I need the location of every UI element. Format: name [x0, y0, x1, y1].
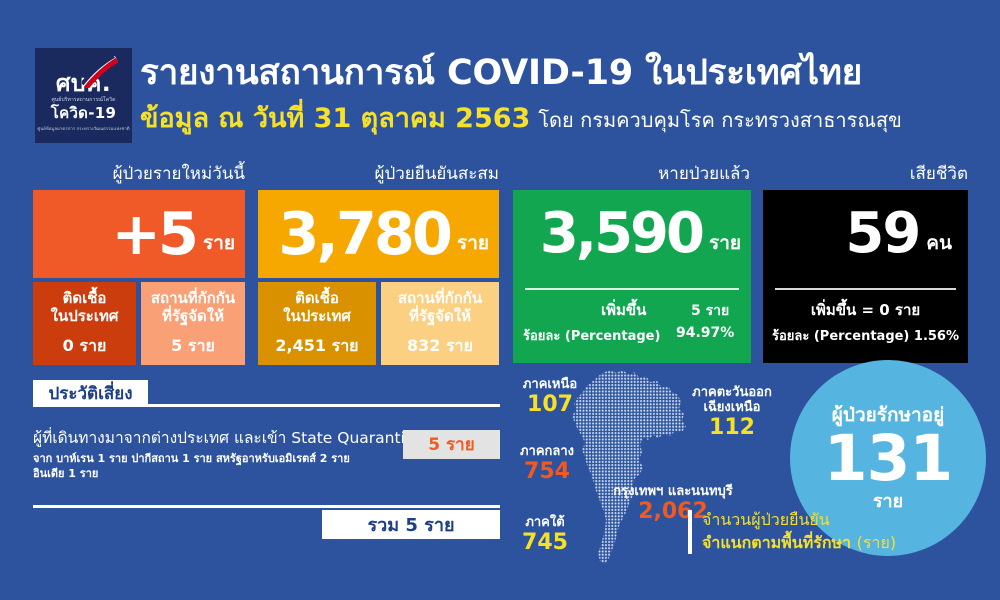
risk-fine-line-2: อินเดีย 1 ราย: [33, 466, 433, 481]
divider: [775, 288, 956, 290]
region-value: 112: [672, 415, 792, 440]
deaths-value: 59: [845, 211, 919, 257]
risk-count-badge: 5 ราย: [403, 430, 500, 459]
thai-flag-ribbon-icon: [82, 56, 118, 88]
new-today-unit: ราย: [203, 228, 235, 258]
new-today-sub-domestic: ติดเชื้อ ในประเทศ 0 ราย: [33, 282, 136, 365]
map-label-central: ภาคกลาง 754: [497, 444, 597, 484]
card-label-new-today: ผู้ป่วยรายใหม่วันนี้: [30, 163, 245, 185]
region-value: 754: [497, 459, 597, 484]
region-name: ภาคใต้: [500, 515, 590, 530]
region-value: 745: [500, 530, 590, 555]
sub-title-line2: ที่รัฐจัดให้: [409, 307, 471, 325]
page-header: ศบค. ศูนย์บริหารสถานการณ์โควิด โควิด-19 …: [0, 0, 1000, 150]
region-name-line2: เฉียงเหนือ: [672, 400, 792, 415]
divider: [525, 288, 739, 290]
recovered-row-0-value: 5 ราย: [691, 300, 729, 322]
region-name: ภาคกลาง: [497, 444, 597, 459]
risk-total-badge: รวม 5 ราย: [322, 510, 500, 539]
caption-unit: (ราย): [857, 533, 896, 552]
risk-history-tag: ประวัติเสี่ยง: [33, 380, 148, 406]
risk-divider: [33, 404, 500, 407]
deaths-unit: คน: [926, 228, 952, 258]
sub-title-line1: สถานที่กักกัน: [398, 289, 482, 307]
report-source: โดย กรมควบคุมโรค กระทรวงสาธารณสุข: [538, 108, 902, 132]
map-label-northeast: ภาคตะวันออก เฉียงเหนือ 112: [672, 385, 792, 440]
sub-title-line2: ในประเทศ: [283, 307, 351, 325]
cumulative-value: 3,780: [278, 210, 450, 258]
report-date: ข้อมูล ณ วันที่ 31 ตุลาคม 2563: [140, 103, 530, 134]
caption-accent-bar: [688, 510, 692, 554]
caption-line-2-text: จำแนกตามพื้นที่รักษา: [702, 533, 851, 552]
risk-country-breakdown: จาก บาห์เรน 1 ราย ปากีสถาน 1 ราย สหรัฐอา…: [33, 451, 433, 481]
recovered-value: 3,590: [540, 211, 702, 257]
deaths-row-1-name: ร้อยละ (Percentage) 1.56%: [763, 325, 968, 346]
deaths-card: 59 คน เพิ่มขึ้น = 0 ราย ร้อยละ (Percenta…: [763, 190, 968, 363]
ccsa-logo: ศบค. ศูนย์บริหารสถานการณ์โควิด โควิด-19 …: [35, 48, 132, 143]
sub-title-line1: สถานที่กักกัน: [151, 289, 235, 307]
recovered-card: 3,590 ราย เพิ่มขึ้น 5 ราย ร้อยละ (Percen…: [513, 190, 751, 363]
caption-line-1: จำนวนผู้ป่วยยืนยัน: [702, 508, 978, 531]
card-label-cumulative: ผู้ป่วยยืนยันสะสม: [258, 163, 499, 185]
cumulative-value-box: 3,780 ราย: [258, 190, 499, 278]
card-label-recovered: หายป่วยแล้ว: [510, 163, 750, 185]
region-name: กรุงเทพฯ และนนทบุรี: [588, 484, 758, 499]
cumulative-unit: ราย: [457, 228, 489, 258]
new-today-value: +5: [111, 210, 196, 258]
map-label-north: ภาคเหนือ 107: [500, 377, 600, 417]
logo-line-3: โควิด-19: [51, 106, 116, 121]
region-name-line1: ภาคตะวันออก: [672, 385, 792, 400]
new-today-value-box: +5 ราย: [33, 190, 245, 278]
risk-fine-line-1: จาก บาห์เรน 1 ราย ปากีสถาน 1 ราย สหรัฐอา…: [33, 451, 433, 466]
deaths-row-0-name: เพิ่มขึ้น = 0 ราย: [763, 298, 968, 322]
recovered-unit: ราย: [709, 228, 741, 258]
cumulative-sub-quarantine: สถานที่กักกัน ที่รัฐจัดให้ 832 ราย: [381, 282, 499, 365]
sub-value: 832 ราย: [407, 334, 473, 359]
sub-value: 2,451 ราย: [275, 334, 358, 359]
page-subtitle: ข้อมูล ณ วันที่ 31 ตุลาคม 2563โดย กรมควบ…: [140, 102, 980, 136]
risk-description: ผู้ที่เดินทางมาจากต่างประเทศ และเข้า Sta…: [33, 428, 413, 448]
logo-line-4: ศูนย์ข้อมูลมาตรการ กระทรวงวัฒนธรรมแห่งชา…: [37, 125, 129, 132]
sub-title-line1: ติดเชื้อ: [63, 289, 107, 307]
sub-title-line2: ที่รัฐจัดให้: [162, 307, 224, 325]
active-value: 131: [824, 426, 953, 492]
total-divider: [33, 505, 500, 508]
sub-value: 5 ราย: [171, 334, 215, 359]
region-name: ภาคเหนือ: [500, 377, 600, 392]
region-value: 107: [500, 392, 600, 417]
card-label-deaths: เสียชีวิต: [760, 163, 968, 185]
recovered-row-0-name: เพิ่มขึ้น: [601, 298, 646, 322]
infographic-page: ศบค. ศูนย์บริหารสถานการณ์โควิด โควิด-19 …: [0, 0, 1000, 600]
logo-line-2: ศูนย์บริหารสถานการณ์โควิด: [51, 98, 115, 104]
recovered-row-1-name: ร้อยละ (Percentage): [523, 325, 660, 346]
recovered-row-1-value: 94.97%: [676, 325, 734, 341]
map-caption: จำนวนผู้ป่วยยืนยัน จำแนกตามพื้นที่รักษา …: [688, 508, 978, 554]
map-label-south: ภาคใต้ 745: [500, 515, 590, 555]
caption-line-2: จำแนกตามพื้นที่รักษา (ราย): [702, 531, 978, 554]
cumulative-sub-domestic: ติดเชื้อ ในประเทศ 2,451 ราย: [258, 282, 376, 365]
new-today-sub-quarantine: สถานที่กักกัน ที่รัฐจัดให้ 5 ราย: [141, 282, 245, 365]
page-title: รายงานสถานการณ์ COVID-19 ในประเทศไทย: [140, 50, 970, 96]
sub-title-line1: ติดเชื้อ: [295, 289, 339, 307]
sub-title-line2: ในประเทศ: [51, 307, 119, 325]
sub-value: 0 ราย: [63, 334, 107, 359]
